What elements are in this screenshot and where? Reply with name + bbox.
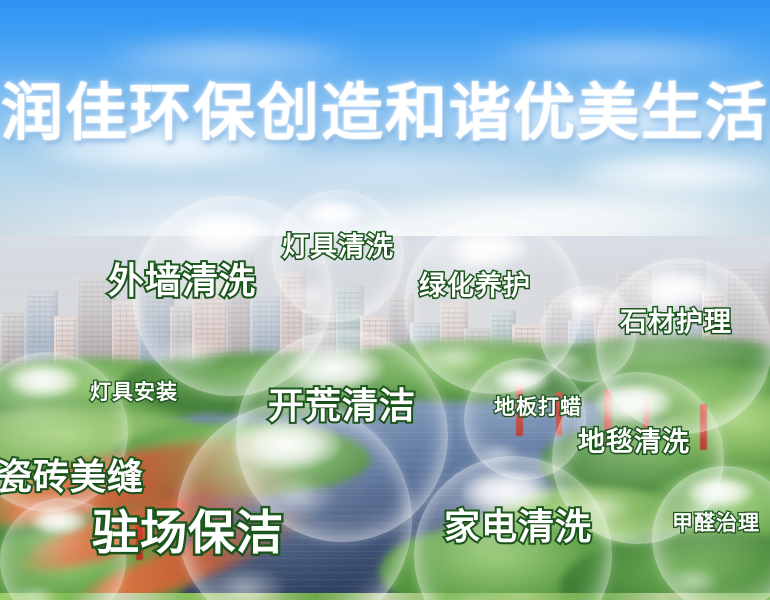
service-label-resident-cleaning[interactable]: 驻场保洁: [92, 494, 284, 563]
poster-root: 润佳环保创造和谐优美生活 外墙清洗灯具清洗绿化养护石材护理灯具安装开荒清洁地板打…: [0, 0, 770, 600]
service-label-ground-clearing-clean[interactable]: 开荒清洁: [268, 377, 416, 429]
service-label-floor-waxing[interactable]: 地板打蜡: [494, 391, 582, 421]
service-label-stone-care[interactable]: 石材护理: [620, 300, 732, 339]
service-label-formaldehyde-treatment[interactable]: 甲醛治理: [672, 507, 760, 537]
service-label-lamp-installation[interactable]: 灯具安装: [90, 376, 178, 406]
service-label-tile-grouting[interactable]: 瓷砖美缝: [0, 448, 144, 500]
service-label-greening-maintenance[interactable]: 绿化养护: [419, 264, 531, 303]
service-label-carpet-cleaning[interactable]: 地毯清洗: [578, 420, 690, 459]
service-label-appliance-cleaning[interactable]: 家电清洗: [444, 498, 592, 550]
service-label-lamp-cleaning[interactable]: 灯具清洗: [282, 225, 394, 264]
service-label-exterior-wall-cleaning[interactable]: 外墙清洗: [108, 252, 256, 304]
page-title: 润佳环保创造和谐优美生活: [0, 62, 770, 152]
